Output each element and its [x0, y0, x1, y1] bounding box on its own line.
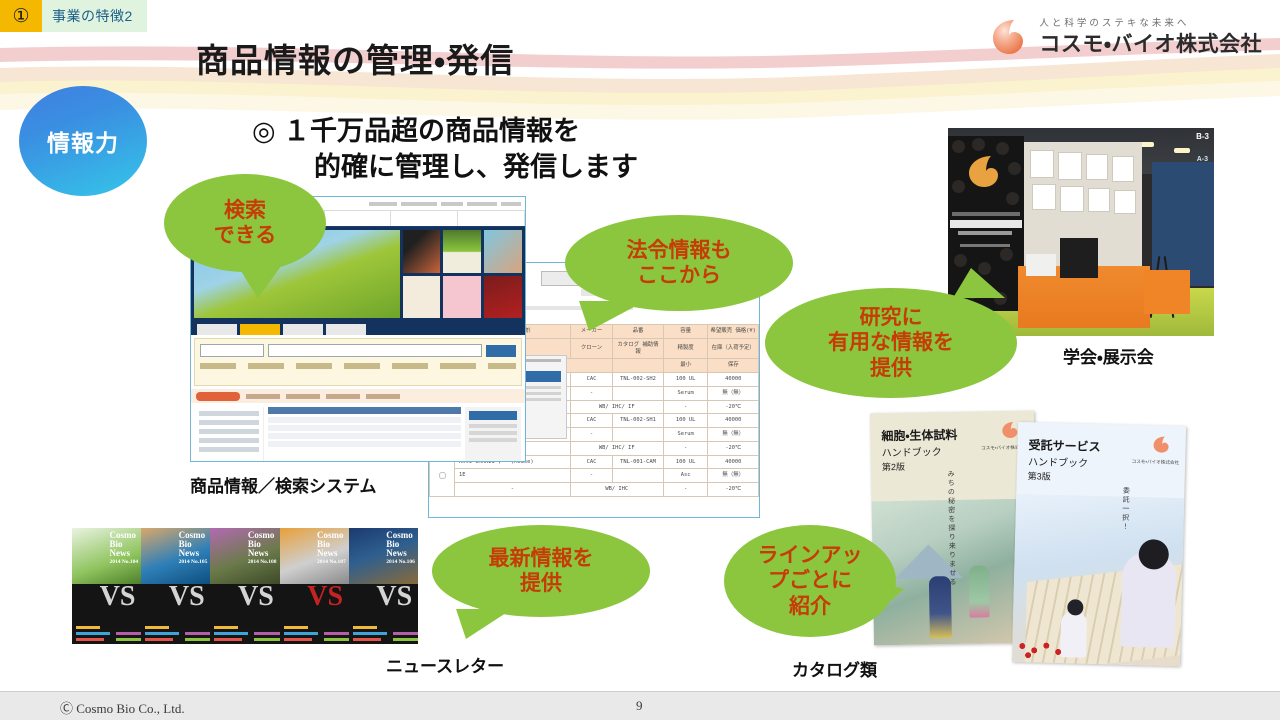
callout-line-3: 紹介 — [789, 594, 831, 619]
th-min: 最小 — [663, 359, 708, 373]
callout-body: 研究に 有用な情報を 提供 — [765, 288, 1017, 398]
cell-maker: CAC — [570, 414, 613, 428]
cell-vol: 100 UL — [663, 373, 708, 387]
catalog-subtitle: ハンドブック — [1028, 453, 1088, 470]
logo-company-name: コスモ・バイオ株式会社 — [1039, 34, 1262, 55]
banner-url — [960, 244, 1010, 247]
category-link[interactable] — [199, 411, 259, 416]
callout-tail — [866, 579, 904, 623]
hero-thumb[interactable] — [484, 230, 522, 273]
callout-law-info: 法令情報も ここから — [565, 215, 793, 311]
category-link[interactable] — [199, 420, 259, 425]
callout-lineup: ラインアッ プごとに 紹介 — [724, 525, 896, 637]
th-stock: 在庫（入荷予定） — [708, 338, 759, 359]
banner-droplet-icon — [964, 154, 1004, 190]
row-checkbox[interactable] — [440, 473, 446, 479]
cell-stock: 無（無） — [708, 428, 759, 442]
hero-thumb[interactable] — [443, 276, 481, 319]
section-number: ① — [0, 0, 42, 32]
callout-tail — [238, 262, 287, 301]
banner-company — [950, 220, 1022, 228]
cell-price: 40000 — [708, 373, 759, 387]
search-row[interactable] — [200, 344, 516, 357]
catalog-title: 受託サービス — [1028, 436, 1100, 455]
expo-monitor — [1060, 238, 1098, 278]
expo-sign-a3: A-3 — [1197, 156, 1208, 163]
callout-line-2: 有用な情報を — [828, 330, 954, 355]
th-clone: クローン — [570, 338, 613, 359]
callout-line-2: できる — [214, 223, 277, 248]
cell-purity: Asc — [663, 469, 708, 483]
campaign-row[interactable] — [268, 425, 461, 431]
th-cataloginfo: カタログ 補助情報 — [613, 338, 664, 359]
cell-storage: -20℃ — [708, 441, 759, 455]
callout-line-2: プごとに — [768, 568, 852, 593]
callout-search: 検索 できる — [164, 174, 326, 272]
web-content-body — [191, 403, 525, 462]
cell-min: - — [663, 400, 708, 414]
callout-line-2: 提供 — [520, 571, 562, 596]
table-row-sub2: - WB/ IHC - -20℃ — [430, 483, 759, 497]
th-storage: 保存 — [708, 359, 759, 373]
callout-tail — [953, 268, 1005, 298]
catalog-vertical-text: 委託一択！ — [1119, 487, 1130, 532]
caption-exhibition: 学会・展示会 — [1063, 343, 1154, 368]
web-search-tabs[interactable] — [191, 321, 525, 335]
hot-keyword-badge — [196, 392, 240, 401]
web-search-panel[interactable] — [194, 338, 522, 386]
callout-body: 検索 できる — [164, 174, 326, 272]
rail-line — [469, 431, 517, 435]
expo-equipment-box — [1026, 254, 1056, 276]
newsletter-vs-mark: VS — [376, 581, 412, 613]
cell-clone: - — [570, 386, 613, 400]
caption-search-system: 商品情報／検索システム — [190, 472, 377, 497]
callout-tail — [579, 301, 645, 331]
callout-line-1: 法令情報も — [627, 238, 732, 263]
newsletter-brand: CosmoBioNews 2014 No.106 — [386, 531, 415, 565]
search-input[interactable] — [268, 344, 482, 357]
company-logo: 人と科学のステキな未来へ コスモ・バイオ株式会社 — [984, 14, 1262, 60]
newsletter-covers: CosmoBioNews 2014 No.104 VS CosmoBioNews… — [72, 528, 418, 644]
callout-line-1: 最新情報を — [489, 546, 594, 571]
cell-stock: 無（無） — [708, 469, 759, 483]
catalog-title: 細胞・生体試料 — [881, 426, 957, 444]
newsletter-brand: CosmoBioNews 2014 No.107 — [317, 531, 346, 565]
callout-tail — [456, 609, 512, 639]
callout-body: 最新情報を 提供 — [432, 525, 650, 617]
web-right-rail — [465, 407, 521, 462]
info-power-label: 情報力 — [47, 124, 119, 158]
category-sidebar[interactable] — [195, 407, 264, 462]
newsletter-cover: CosmoBioNews 2014 No.108 VS — [210, 528, 279, 644]
newsletter-brand: CosmoBioNews 2014 No.104 — [109, 531, 138, 565]
campaign-row[interactable] — [268, 417, 461, 423]
banner-tagline — [952, 212, 1020, 216]
info-power-badge: 情報力 — [19, 86, 147, 196]
callout-line-1: 検索 — [224, 198, 266, 223]
cell-code: TNL-001-CAM — [613, 455, 664, 469]
web-hot-keywords-bar[interactable] — [191, 389, 525, 403]
hot-keyword[interactable] — [286, 394, 320, 399]
caption-catalogs: カタログ類 — [792, 656, 877, 681]
cell-purity: Serum — [663, 386, 708, 400]
headline-line-1: ◎ １千万品超の商品情報を — [252, 116, 580, 146]
newsletter-cover: CosmoBioNews 2014 No.105 VS — [141, 528, 210, 644]
slide-footer: Ⓒ Cosmo Bio Co., Ltd. 9 — [0, 691, 1280, 720]
cell-vol: 100 UL — [663, 414, 708, 428]
newsletter-vs-mark: VS — [100, 581, 136, 613]
catalog-vertical-text: みちの秘密を探り来りませる — [945, 470, 957, 587]
cell-change: 1E — [455, 469, 571, 483]
caption-newsletter: ニュースレター — [386, 652, 504, 677]
banner-droplet-svg — [964, 154, 1004, 190]
expo-booth-table-2 — [1144, 270, 1190, 314]
hero-thumb[interactable] — [403, 276, 441, 319]
campaign-table — [268, 407, 461, 462]
campaign-row[interactable] — [268, 441, 461, 447]
cell-stock: 無（無） — [708, 386, 759, 400]
tab-site-overview[interactable] — [197, 324, 237, 335]
category-link[interactable] — [199, 438, 259, 443]
hot-keyword[interactable] — [366, 394, 400, 399]
callout-line-1: 研究に — [860, 305, 923, 330]
hero-thumb[interactable] — [484, 276, 522, 319]
cell-storage: -20℃ — [708, 483, 759, 497]
cell-application: WB/ IHC — [570, 483, 663, 497]
droplet-svg — [984, 14, 1030, 60]
th-purity: 精製度 — [663, 338, 708, 359]
cell-min: - — [663, 483, 708, 497]
newsletter-vs-mark: VS — [238, 581, 274, 613]
th-price: 希望販売 価格(¥) — [708, 325, 759, 339]
hero-thumb[interactable] — [403, 230, 441, 273]
catalog-subtitle: ハンドブック — [882, 443, 942, 459]
callout-research-info: 研究に 有用な情報を 提供 — [765, 288, 1017, 398]
hero-thumbnail-grid — [403, 230, 522, 318]
rail-line — [469, 424, 517, 428]
hot-keyword[interactable] — [326, 394, 360, 399]
hero-thumb[interactable] — [443, 230, 481, 273]
campaign-row[interactable] — [268, 433, 461, 439]
cosmo-bio-droplet-icon — [984, 14, 1030, 60]
expo-neighbor-booth — [1152, 162, 1214, 286]
copyright-text: Ⓒ Cosmo Bio Co., Ltd. — [60, 698, 185, 717]
catalog-figure — [969, 565, 990, 617]
cell-vol: 100 UL — [663, 455, 708, 469]
tab-product-search[interactable] — [240, 324, 280, 335]
catalog-droplet-icon — [1151, 435, 1172, 456]
callout-line-1: ラインアッ — [758, 543, 863, 568]
catalog-cover-contract-service: 受託サービス ハンドブック 第3版 委託一択！ コスモ・バイオ株式会社 — [1012, 422, 1186, 666]
cell-clone: - — [570, 469, 613, 483]
cell-clone: - — [570, 428, 613, 442]
cell-catalog — [613, 386, 664, 400]
section-badge: ① 事業の特徴2 — [0, 0, 147, 32]
campaign-table-header — [268, 407, 461, 414]
callout-latest-info: 最新情報を 提供 — [432, 525, 650, 617]
newsletter-vs-mark: VS — [169, 581, 205, 613]
inquiry-button[interactable] — [469, 411, 517, 420]
catalog-brand: コスモ・バイオ株式会社 — [1132, 459, 1180, 466]
cell-application: WB/ IHC/ IF — [570, 441, 663, 455]
cell-min: - — [663, 441, 708, 455]
rail-line — [469, 438, 517, 442]
search-button[interactable] — [486, 345, 516, 357]
catalog-edition: 第3版 — [1028, 469, 1051, 483]
search-category-select[interactable] — [200, 344, 264, 357]
cell-maker: CAC — [570, 373, 613, 387]
logo-text-block: 人と科学のステキな未来へ コスモ・バイオ株式会社 — [1039, 19, 1262, 55]
page-number: 9 — [636, 698, 643, 714]
cell-price: 40000 — [708, 414, 759, 428]
cell-code: TNL-002-SH2 — [613, 373, 664, 387]
callout-line-2: ここから — [637, 263, 721, 288]
table-row-sub: 1E - Asc 無（無） — [430, 469, 759, 483]
catalog-berries-art — [1016, 640, 1071, 661]
cell-maker: CAC — [570, 455, 613, 469]
hot-keyword[interactable] — [246, 394, 280, 399]
logo-tagline: 人と科学のステキな未来へ — [1039, 19, 1262, 29]
cell-catalog — [613, 469, 664, 483]
newsletter-brand: CosmoBioNews 2014 No.108 — [248, 531, 277, 565]
tab-application-search[interactable] — [326, 324, 366, 335]
banner-company-en — [958, 231, 1012, 235]
newsletter-brand: CosmoBioNews 2014 No.105 — [179, 531, 208, 565]
callout-line-3: 提供 — [870, 356, 912, 381]
category-link[interactable] — [199, 429, 259, 434]
catalog-droplet-svg — [1151, 435, 1172, 456]
cell-purity: Serum — [663, 428, 708, 442]
newsletter-cover: CosmoBioNews 2014 No.104 VS — [72, 528, 141, 644]
tab-code-search[interactable] — [283, 324, 323, 335]
expo-sign-b3: B-3 — [1196, 132, 1209, 141]
catalog-edition: 第2版 — [882, 460, 905, 473]
th-vol: 容量 — [663, 325, 708, 339]
callout-body: 法令情報も ここから — [565, 215, 793, 311]
cell-code: TNL-002-SH1 — [613, 414, 664, 428]
search-quick-links[interactable] — [200, 363, 516, 369]
cell-application: WB/ IHC/ IF — [570, 400, 663, 414]
newsletter-cover: CosmoBioNews 2014 No.107 VS — [280, 528, 349, 644]
cell-dash: - — [455, 483, 571, 497]
category-link[interactable] — [199, 447, 259, 452]
cell-catalog — [613, 428, 664, 442]
page-title: 商品情報の管理・発信 — [196, 34, 514, 82]
cell-price: 40000 — [708, 455, 759, 469]
newsletter-cover: CosmoBioNews 2014 No.106 VS — [349, 528, 418, 644]
newsletter-vs-mark: VS — [307, 581, 343, 613]
cell-storage: -20℃ — [708, 400, 759, 414]
section-label: 事業の特徴2 — [42, 0, 147, 32]
